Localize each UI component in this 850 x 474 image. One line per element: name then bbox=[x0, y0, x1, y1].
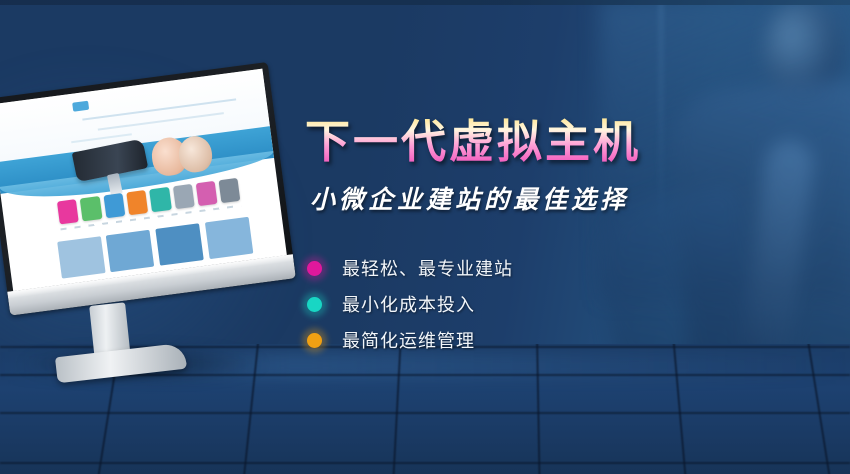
feature-label: 最轻松、最专业建站 bbox=[342, 255, 513, 281]
floor-grout-line-h bbox=[0, 412, 850, 414]
feature-item: 最轻松、最专业建站 bbox=[307, 250, 513, 286]
page-subtitle: 小微企业建站的最佳选择 bbox=[310, 180, 629, 216]
bullet-dot-teal bbox=[307, 297, 322, 312]
monitor-screen-wrap bbox=[0, 53, 303, 340]
website-app-icon bbox=[126, 190, 148, 215]
website-thumbnail bbox=[57, 236, 105, 279]
bullet-dot-orange bbox=[307, 333, 322, 348]
website-app-icon bbox=[219, 178, 241, 203]
website-thumbnail bbox=[155, 223, 203, 266]
monitor-bezel bbox=[0, 62, 296, 316]
page-title: 下一代虚拟主机 bbox=[305, 105, 641, 170]
website-app-icon bbox=[149, 187, 171, 212]
feature-item: 最简化运维管理 bbox=[307, 322, 513, 358]
website-app-icon bbox=[172, 184, 194, 209]
website-thumbnail bbox=[106, 229, 154, 272]
feature-list: 最轻松、最专业建站 最小化成本投入 最简化运维管理 bbox=[307, 250, 513, 358]
bullet-dot-magenta bbox=[307, 261, 322, 276]
website-app-icon bbox=[57, 199, 79, 224]
website-app-icon bbox=[196, 181, 218, 206]
website-preview bbox=[0, 69, 287, 291]
hero-banner: 下一代虚拟主机 小微企业建站的最佳选择 最轻松、最专业建站 最小化成本投入 最简… bbox=[0, 0, 850, 474]
website-app-icon bbox=[80, 196, 102, 221]
feature-label: 最简化运维管理 bbox=[342, 327, 475, 353]
desktop-monitor bbox=[0, 72, 298, 402]
feature-item: 最小化成本投入 bbox=[307, 286, 513, 322]
website-app-icon bbox=[103, 193, 125, 218]
feature-label: 最小化成本投入 bbox=[342, 291, 475, 317]
website-thumbnail bbox=[205, 217, 253, 260]
floor-grout-line-h bbox=[0, 462, 850, 464]
top-edge-strip bbox=[0, 0, 850, 5]
